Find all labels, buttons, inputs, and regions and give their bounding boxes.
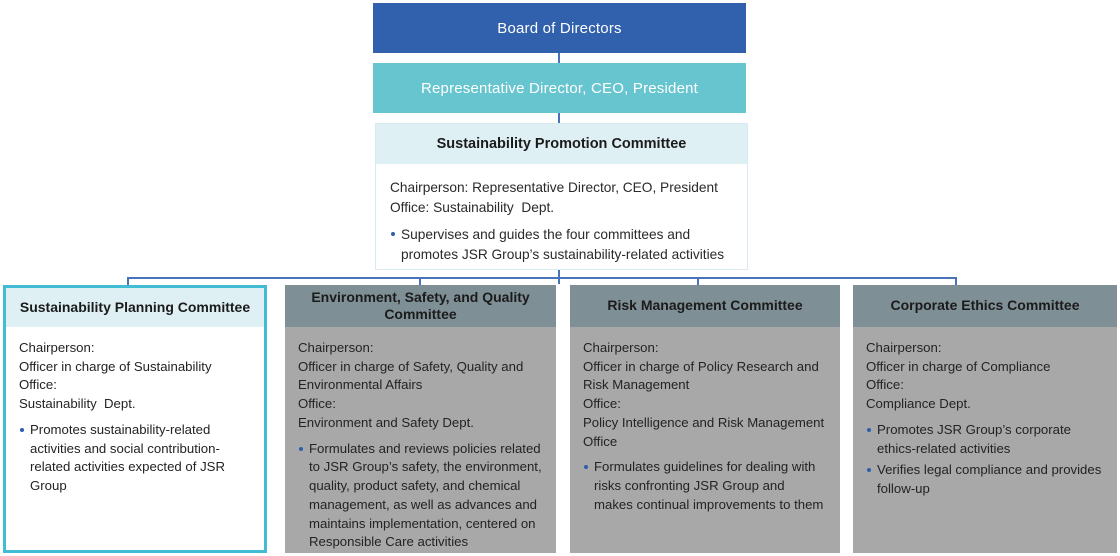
committee-meta: Chairperson:Officer in charge of Complia… [866, 339, 1104, 414]
meta-line: Chairperson: [583, 339, 827, 358]
meta-line: Policy Intelligence and Risk Management … [583, 414, 827, 451]
committee-body: Chairperson:Officer in charge of Sustain… [6, 327, 264, 550]
bullet-item: Formulates guidelines for dealing with r… [583, 458, 827, 514]
committee-title: Corporate Ethics Committee [853, 285, 1117, 327]
committee-bullets: Formulates guidelines for dealing with r… [583, 458, 827, 514]
meta-line: Office: [866, 376, 1104, 395]
node-representative-director: Representative Director, CEO, President [373, 63, 746, 113]
bullet-item: Promotes JSR Group’s corporate ethics-re… [866, 421, 1104, 458]
meta-line: Compliance Dept. [866, 395, 1104, 414]
promotion-committee-bullets: Supervises and guides the four committee… [390, 225, 733, 265]
committee-bullets: Formulates and reviews policies related … [298, 440, 543, 552]
node-sustainability-promotion-committee: Sustainability Promotion Committee Chair… [375, 123, 748, 270]
meta-line: Office: [298, 395, 543, 414]
connector-horizontal-bus [127, 277, 956, 279]
meta-line: Office: Sustainability Dept. [390, 198, 733, 218]
node-committee-risk-management: Risk Management Committee Chairperson:Of… [570, 285, 840, 553]
meta-line: Environment and Safety Dept. [298, 414, 543, 433]
committee-meta: Chairperson:Officer in charge of Policy … [583, 339, 827, 451]
bullet-item: Promotes sustainability-related activiti… [19, 421, 251, 496]
promotion-committee-meta: Chairperson: Representative Director, CE… [390, 178, 733, 218]
committee-bullets: Promotes sustainability-related activiti… [19, 421, 251, 496]
meta-line: Sustainability Dept. [19, 395, 251, 414]
meta-line: Officer in charge of Policy Research and… [583, 358, 827, 395]
meta-line: Chairperson: [19, 339, 251, 358]
meta-line: Office: [19, 376, 251, 395]
bullet-item: Verifies legal compliance and provides f… [866, 461, 1104, 498]
meta-line: Chairperson: [298, 339, 543, 358]
node-board-of-directors: Board of Directors [373, 3, 746, 53]
committee-bullets: Promotes JSR Group’s corporate ethics-re… [866, 421, 1104, 499]
promotion-committee-title: Sustainability Promotion Committee [376, 124, 747, 164]
committee-title: Environment, Safety, and Quality Committ… [285, 285, 556, 327]
meta-line: Officer in charge of Compliance [866, 358, 1104, 377]
connector-ceo-to-promotion [558, 113, 560, 123]
promotion-committee-body: Chairperson: Representative Director, CE… [376, 164, 747, 275]
node-committee-corporate-ethics: Corporate Ethics Committee Chairperson:O… [853, 285, 1117, 553]
committee-title: Sustainability Planning Committee [6, 288, 264, 327]
committee-meta: Chairperson:Officer in charge of Sustain… [19, 339, 251, 414]
node-committee-environment-safety-quality: Environment, Safety, and Quality Committ… [285, 285, 556, 553]
representative-director-label: Representative Director, CEO, President [421, 80, 698, 97]
committee-body: Chairperson:Officer in charge of Complia… [853, 327, 1117, 553]
meta-line: Chairperson: [866, 339, 1104, 358]
bullet-item: Formulates and reviews policies related … [298, 440, 543, 552]
committee-body: Chairperson:Officer in charge of Policy … [570, 327, 840, 553]
committee-title: Risk Management Committee [570, 285, 840, 327]
org-chart-diagram: Board of Directors Representative Direct… [0, 0, 1120, 556]
connector-board-to-ceo [558, 53, 560, 63]
meta-line: Officer in charge of Sustainability [19, 358, 251, 377]
meta-line: Office: [583, 395, 827, 414]
meta-line: Officer in charge of Safety, Quality and… [298, 358, 543, 395]
node-committee-sustainability-planning: Sustainability Planning Committee Chairp… [3, 285, 267, 553]
meta-line: Chairperson: Representative Director, CE… [390, 178, 733, 198]
committee-body: Chairperson:Officer in charge of Safety,… [285, 327, 556, 553]
committee-meta: Chairperson:Officer in charge of Safety,… [298, 339, 543, 433]
board-of-directors-label: Board of Directors [497, 20, 621, 37]
bullet-item: Supervises and guides the four committee… [390, 225, 733, 265]
